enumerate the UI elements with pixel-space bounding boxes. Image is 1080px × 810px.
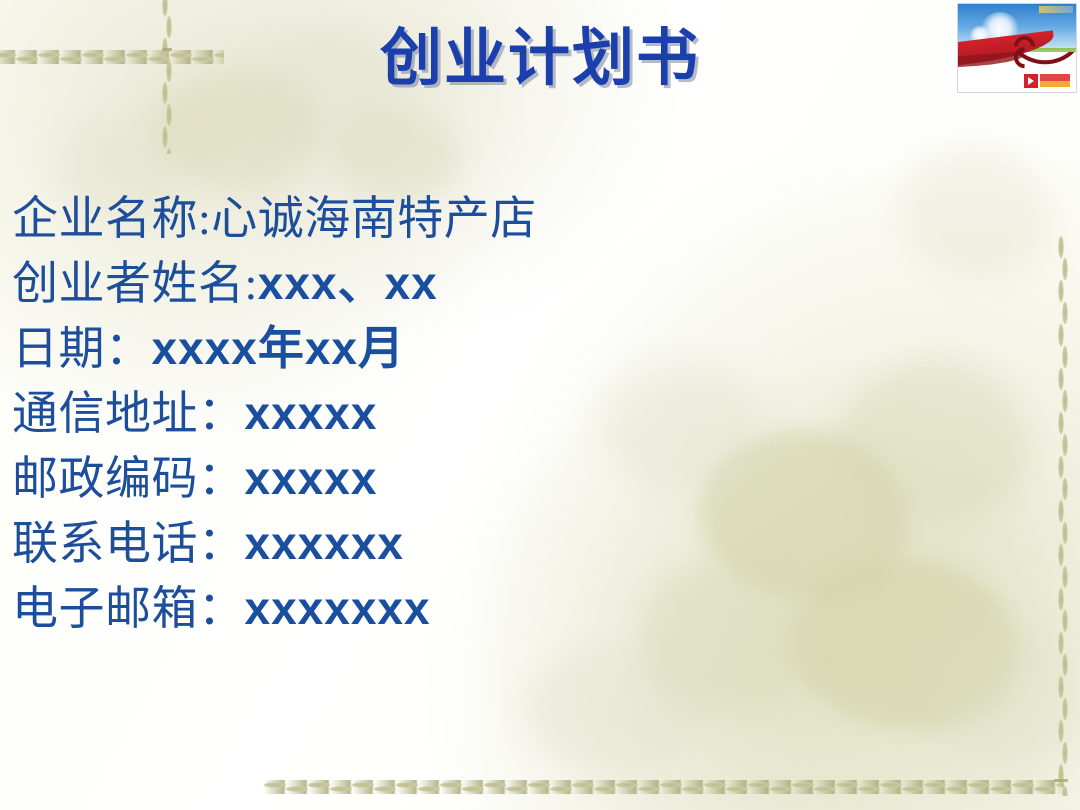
- field-value-mailing-address: xxxxx: [245, 387, 378, 439]
- bamboo-border-right-vertical: [1056, 236, 1070, 796]
- field-label-phone: 联系电话：: [12, 518, 245, 569]
- bamboo-border-bottom: [264, 780, 1064, 794]
- field-label-mailing-address: 通信地址：: [12, 388, 245, 439]
- field-row-email: 电子邮箱：xxxxxxx: [12, 576, 1012, 641]
- cover-photo-thumbnail[interactable]: [957, 3, 1077, 93]
- field-row-founder-name: 创业者姓名:xxx、xx: [12, 251, 1012, 316]
- bamboo-node-bottom-right: [1054, 779, 1068, 782]
- field-row-date: 日期：xxxx年xx月: [12, 316, 1012, 381]
- slide-title: 创业计划书: [0, 20, 1080, 98]
- field-value-email: xxxxxxx: [245, 582, 431, 634]
- field-value-postal-code: xxxxx: [245, 452, 378, 504]
- field-label-founder-name: 创业者姓名:: [12, 258, 258, 309]
- field-row-phone: 联系电话：xxxxxx: [12, 511, 1012, 576]
- field-value-phone: xxxxxx: [245, 517, 405, 569]
- thumbnail-logo: [1024, 73, 1070, 88]
- field-row-mailing-address: 通信地址：xxxxx: [12, 381, 1012, 446]
- field-value-company-name: 心诚海南特产店: [211, 193, 537, 244]
- field-row-company-name: 企业名称:心诚海南特产店: [12, 186, 1012, 251]
- thumbnail-corner-caption: [1039, 6, 1073, 13]
- field-value-date: xxxx年xx月: [152, 322, 406, 374]
- field-label-company-name: 企业名称:: [12, 193, 211, 244]
- info-field-list: 企业名称:心诚海南特产店 创业者姓名:xxx、xx 日期：xxxx年xx月 通信…: [12, 186, 1012, 641]
- logo-wordmark: [1040, 74, 1070, 87]
- field-row-postal-code: 邮政编码：xxxxx: [12, 446, 1012, 511]
- field-label-email: 电子邮箱：: [12, 583, 245, 634]
- field-value-founder-name: xxx、xx: [258, 257, 438, 309]
- field-label-postal-code: 邮政编码：: [12, 453, 245, 504]
- field-label-date: 日期：: [12, 323, 152, 374]
- presentation-slide: 创业计划书 企业名称:心诚海南特产店 创业者姓名:xxx、xx 日期：xxxx年…: [0, 0, 1080, 810]
- play-mark-icon: [1024, 74, 1038, 88]
